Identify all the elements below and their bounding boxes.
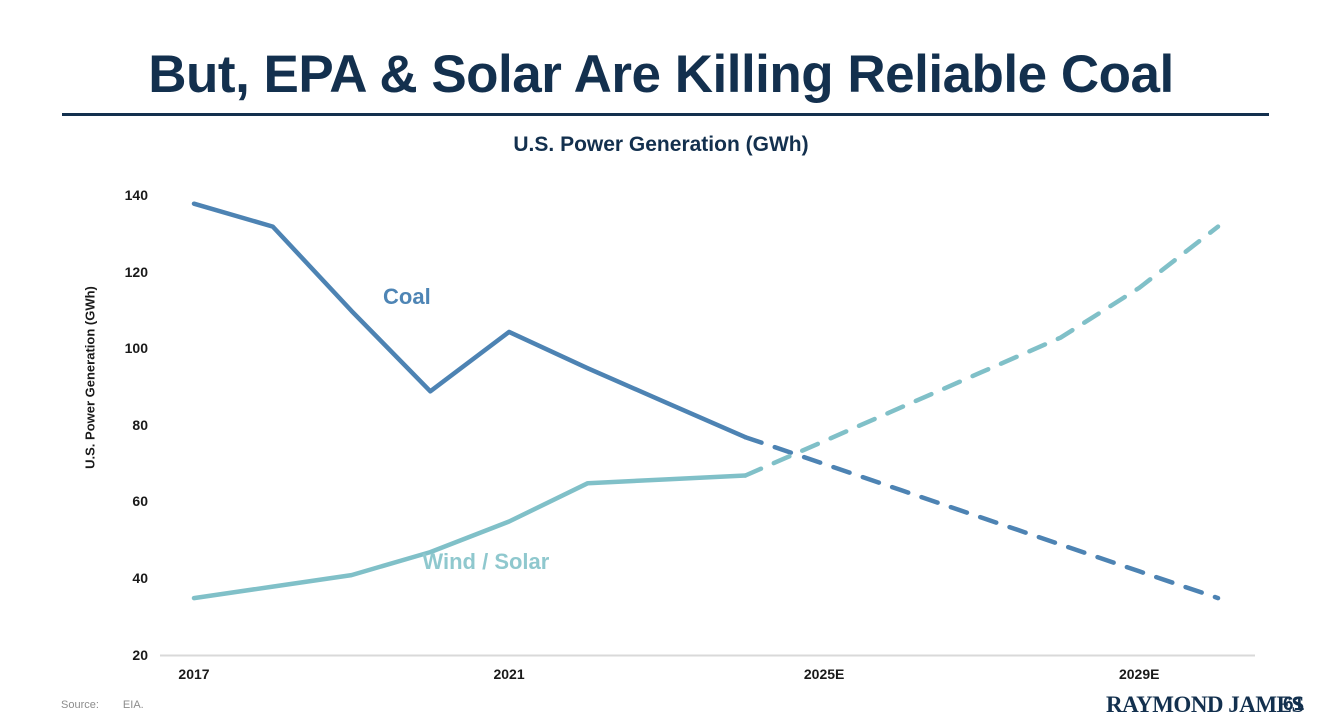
source-value: EIA. [123, 699, 144, 711]
series-line-solid-wind-solar [194, 476, 745, 599]
y-axis-title: U.S. Power Generation (GWh) [83, 248, 98, 508]
y-tick-label: 140 [96, 187, 148, 203]
page-number: 61 [1283, 694, 1304, 716]
series-label-coal: Coal [383, 284, 431, 310]
line-chart: 20406080100120140 U.S. Power Generation … [0, 0, 1322, 726]
x-tick-label: 2029E [1094, 666, 1184, 682]
series-line-forecast-wind-solar [745, 227, 1218, 476]
series-label-wind-solar: Wind / Solar [422, 549, 549, 575]
x-tick-label: 2025E [779, 666, 869, 682]
x-tick-label: 2021 [464, 666, 554, 682]
source-label: Source: [61, 699, 99, 711]
series-line-forecast-coal [745, 437, 1218, 598]
series-line-solid-coal [194, 204, 745, 438]
y-tick-label: 100 [96, 340, 148, 356]
chart-canvas [0, 0, 1322, 726]
raymond-james-logo: RAYMOND JAMES [1106, 692, 1304, 718]
y-tick-label: 60 [96, 493, 148, 509]
source-note: Source:EIA. [61, 699, 144, 711]
y-tick-label: 80 [96, 417, 148, 433]
y-tick-label: 40 [96, 570, 148, 586]
y-tick-label: 120 [96, 264, 148, 280]
y-tick-label: 20 [96, 647, 148, 663]
series-layer [194, 204, 1218, 598]
x-tick-label: 2017 [149, 666, 239, 682]
